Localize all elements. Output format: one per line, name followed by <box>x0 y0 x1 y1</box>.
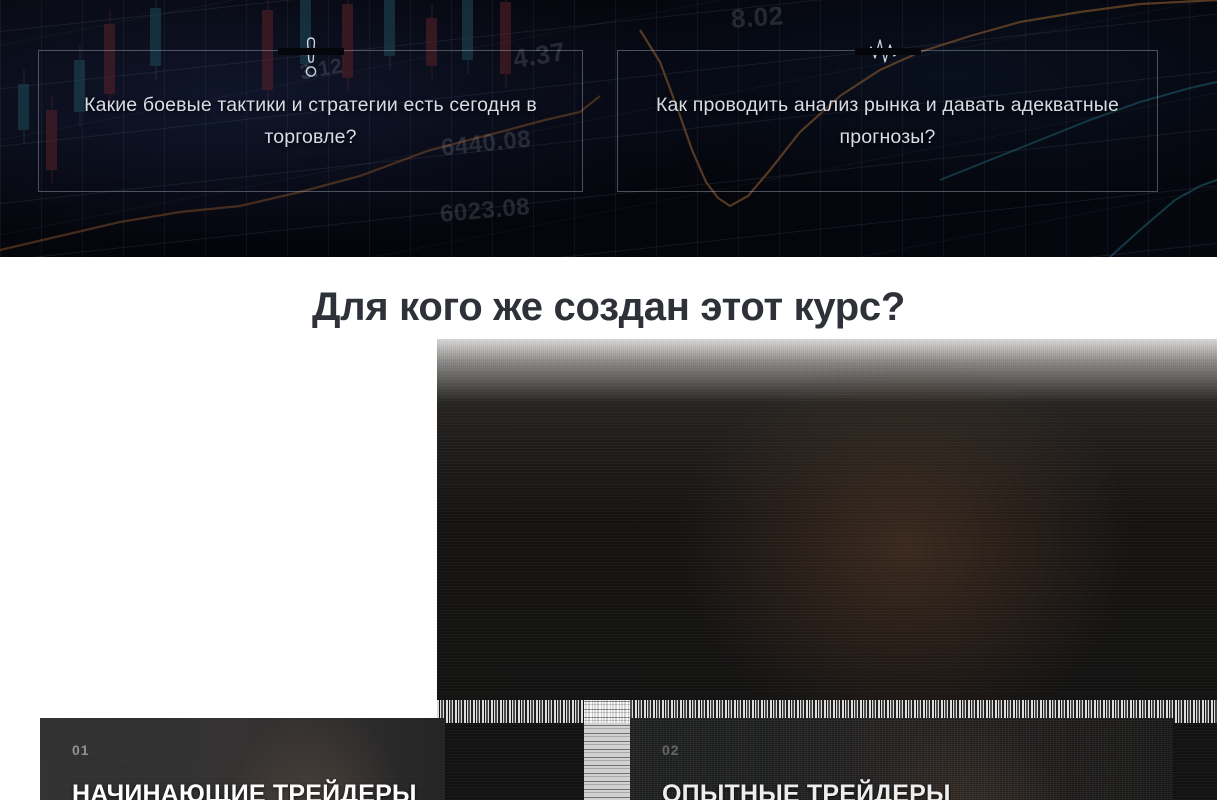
icon-border-mask <box>855 48 921 55</box>
card-number: 01 <box>72 742 445 758</box>
page-title: Для кого же создан этот курс? <box>312 285 905 330</box>
exclamation-mark-icon <box>284 34 338 80</box>
question-card-analysis[interactable]: Как проводить анализ рынка и давать адек… <box>617 50 1158 192</box>
audience-card-experienced[interactable]: 02 ОПЫТНЫЕ ТРЕЙДЕРЫ Богатый опыт в прова… <box>630 718 1173 800</box>
card-heading: ОПЫТНЫЕ ТРЕЙДЕРЫ <box>662 780 1173 800</box>
question-text: Какие боевые тактики и стратегии есть се… <box>39 89 582 153</box>
question-card-tactics[interactable]: Какие боевые тактики и стратегии есть се… <box>38 50 583 192</box>
hero-question-cards: Какие боевые тактики и стратегии есть се… <box>0 0 1217 257</box>
audience-cards-section: 01 НАЧИНАЮЩИЕ ТРЕЙДЕРЫ В торговле на бир… <box>0 357 1217 800</box>
audience-card-beginners[interactable]: 01 НАЧИНАЮЩИЕ ТРЕЙДЕРЫ В торговле на бир… <box>40 718 445 800</box>
hero-banner: 8.02 4.37 3.12 6440.08 6023.08 Какие бое… <box>0 0 1217 257</box>
icon-border-mask <box>278 48 344 55</box>
question-text: Как проводить анализ рынка и давать адек… <box>618 89 1157 153</box>
noise-gap-vertical <box>584 700 630 800</box>
card-number: 02 <box>662 742 1173 758</box>
card-heading: НАЧИНАЮЩИЕ ТРЕЙДЕРЫ <box>72 780 445 800</box>
